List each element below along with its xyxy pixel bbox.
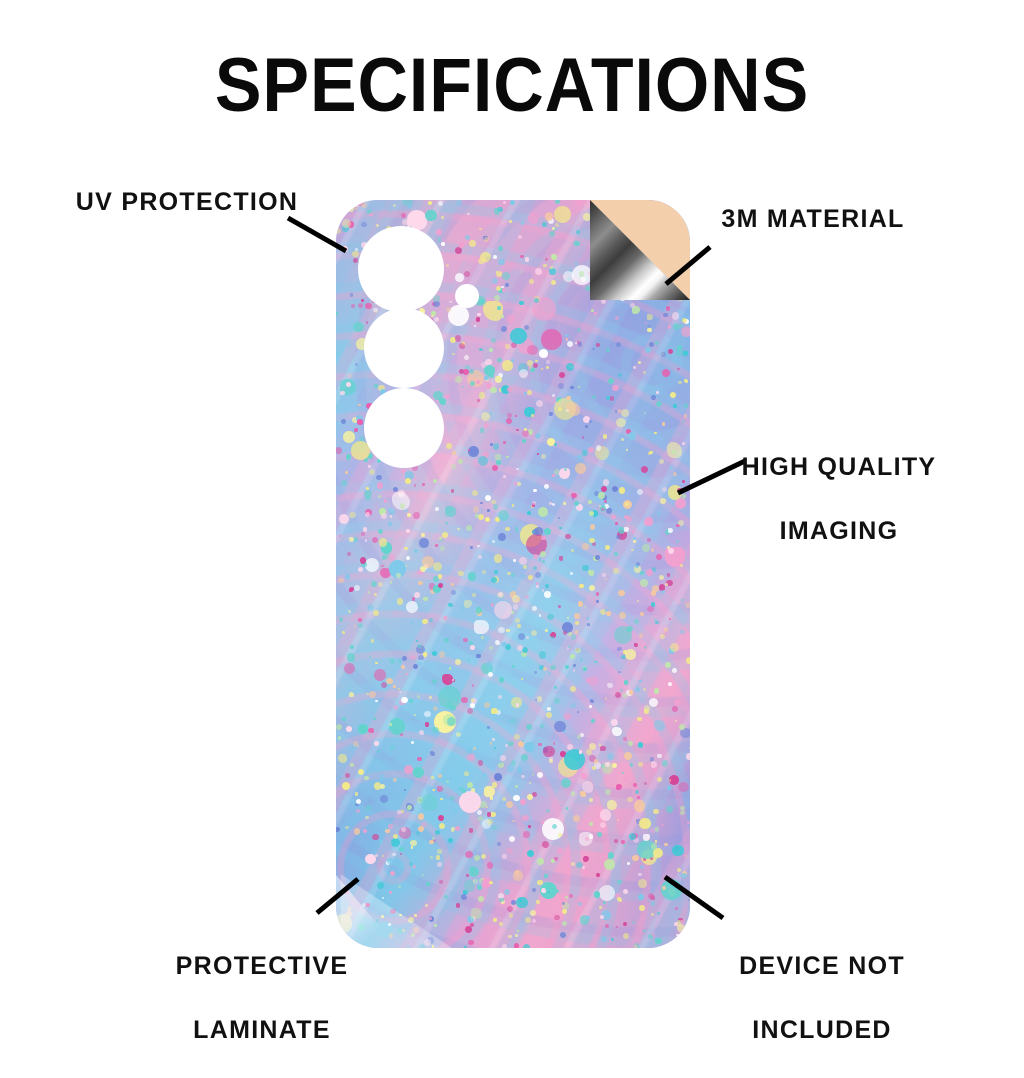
callout-line-2: IMAGING <box>726 515 952 547</box>
callout-line-1: DEVICE NOT <box>704 950 940 982</box>
flash-cutout <box>455 284 479 308</box>
skin-artwork <box>336 200 690 948</box>
callout-line-2: INCLUDED <box>704 1014 940 1046</box>
callout-label-uv-protection: UV PROTECTION <box>58 186 316 218</box>
callout-line-2: LAMINATE <box>140 1014 384 1046</box>
specifications-graphic: SPECIFICATIONS UV PROTECTION 3 <box>0 0 1024 1024</box>
camera-cutout-2 <box>364 308 444 388</box>
callout-label-high-quality-imaging: HIGH QUALITY IMAGING <box>726 419 952 579</box>
callout-line-1: HIGH QUALITY <box>726 451 952 483</box>
camera-cutout-3 <box>364 388 444 468</box>
callout-label-protective-laminate: PROTECTIVE LAMINATE <box>140 918 384 1078</box>
phone-skin <box>336 200 690 948</box>
callout-line-1: PROTECTIVE <box>140 950 384 982</box>
peel-corner <box>590 200 690 300</box>
callout-label-3m-material: 3M MATERIAL <box>700 203 926 235</box>
callout-label-device-not-included: DEVICE NOT INCLUDED <box>704 918 940 1078</box>
page-title: SPECIFICATIONS <box>41 42 983 129</box>
camera-cutout-1 <box>358 226 444 312</box>
